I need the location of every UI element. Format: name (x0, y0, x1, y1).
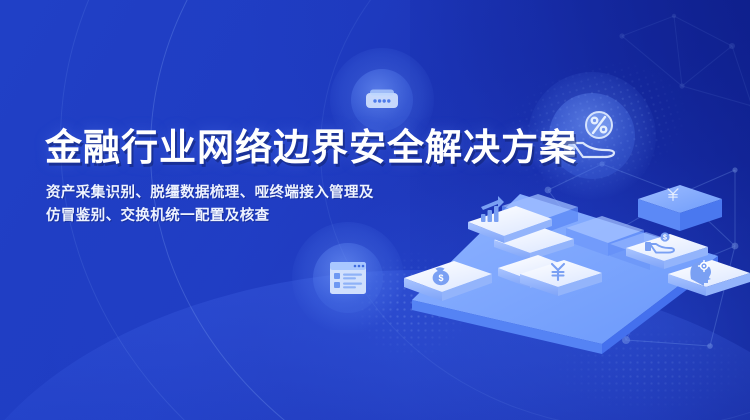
finance-security-banner: $ (0, 0, 750, 420)
svg-text:$: $ (663, 235, 667, 242)
page-subtitle: 资产采集识别、脱缰数据梳理、哑终端接入管理及 仿冒鉴别、交换机统一配置及核查 (46, 182, 406, 229)
document-list-icon (328, 260, 368, 296)
svg-text:$: $ (438, 273, 443, 283)
badge-disc (313, 243, 383, 313)
page-title: 金融行业网络边界安全解决方案 (45, 128, 577, 168)
isometric-platform: $ (388, 182, 750, 354)
page-subtitle-line-1: 资产采集识别、脱缰数据梳理、哑终端接入管理及 (46, 182, 406, 205)
page-subtitle-line-2: 仿冒鉴别、交换机统一配置及核查 (46, 205, 406, 228)
server-icon (364, 86, 400, 114)
yen-block-icon (638, 185, 722, 231)
badge-disc (351, 69, 413, 131)
